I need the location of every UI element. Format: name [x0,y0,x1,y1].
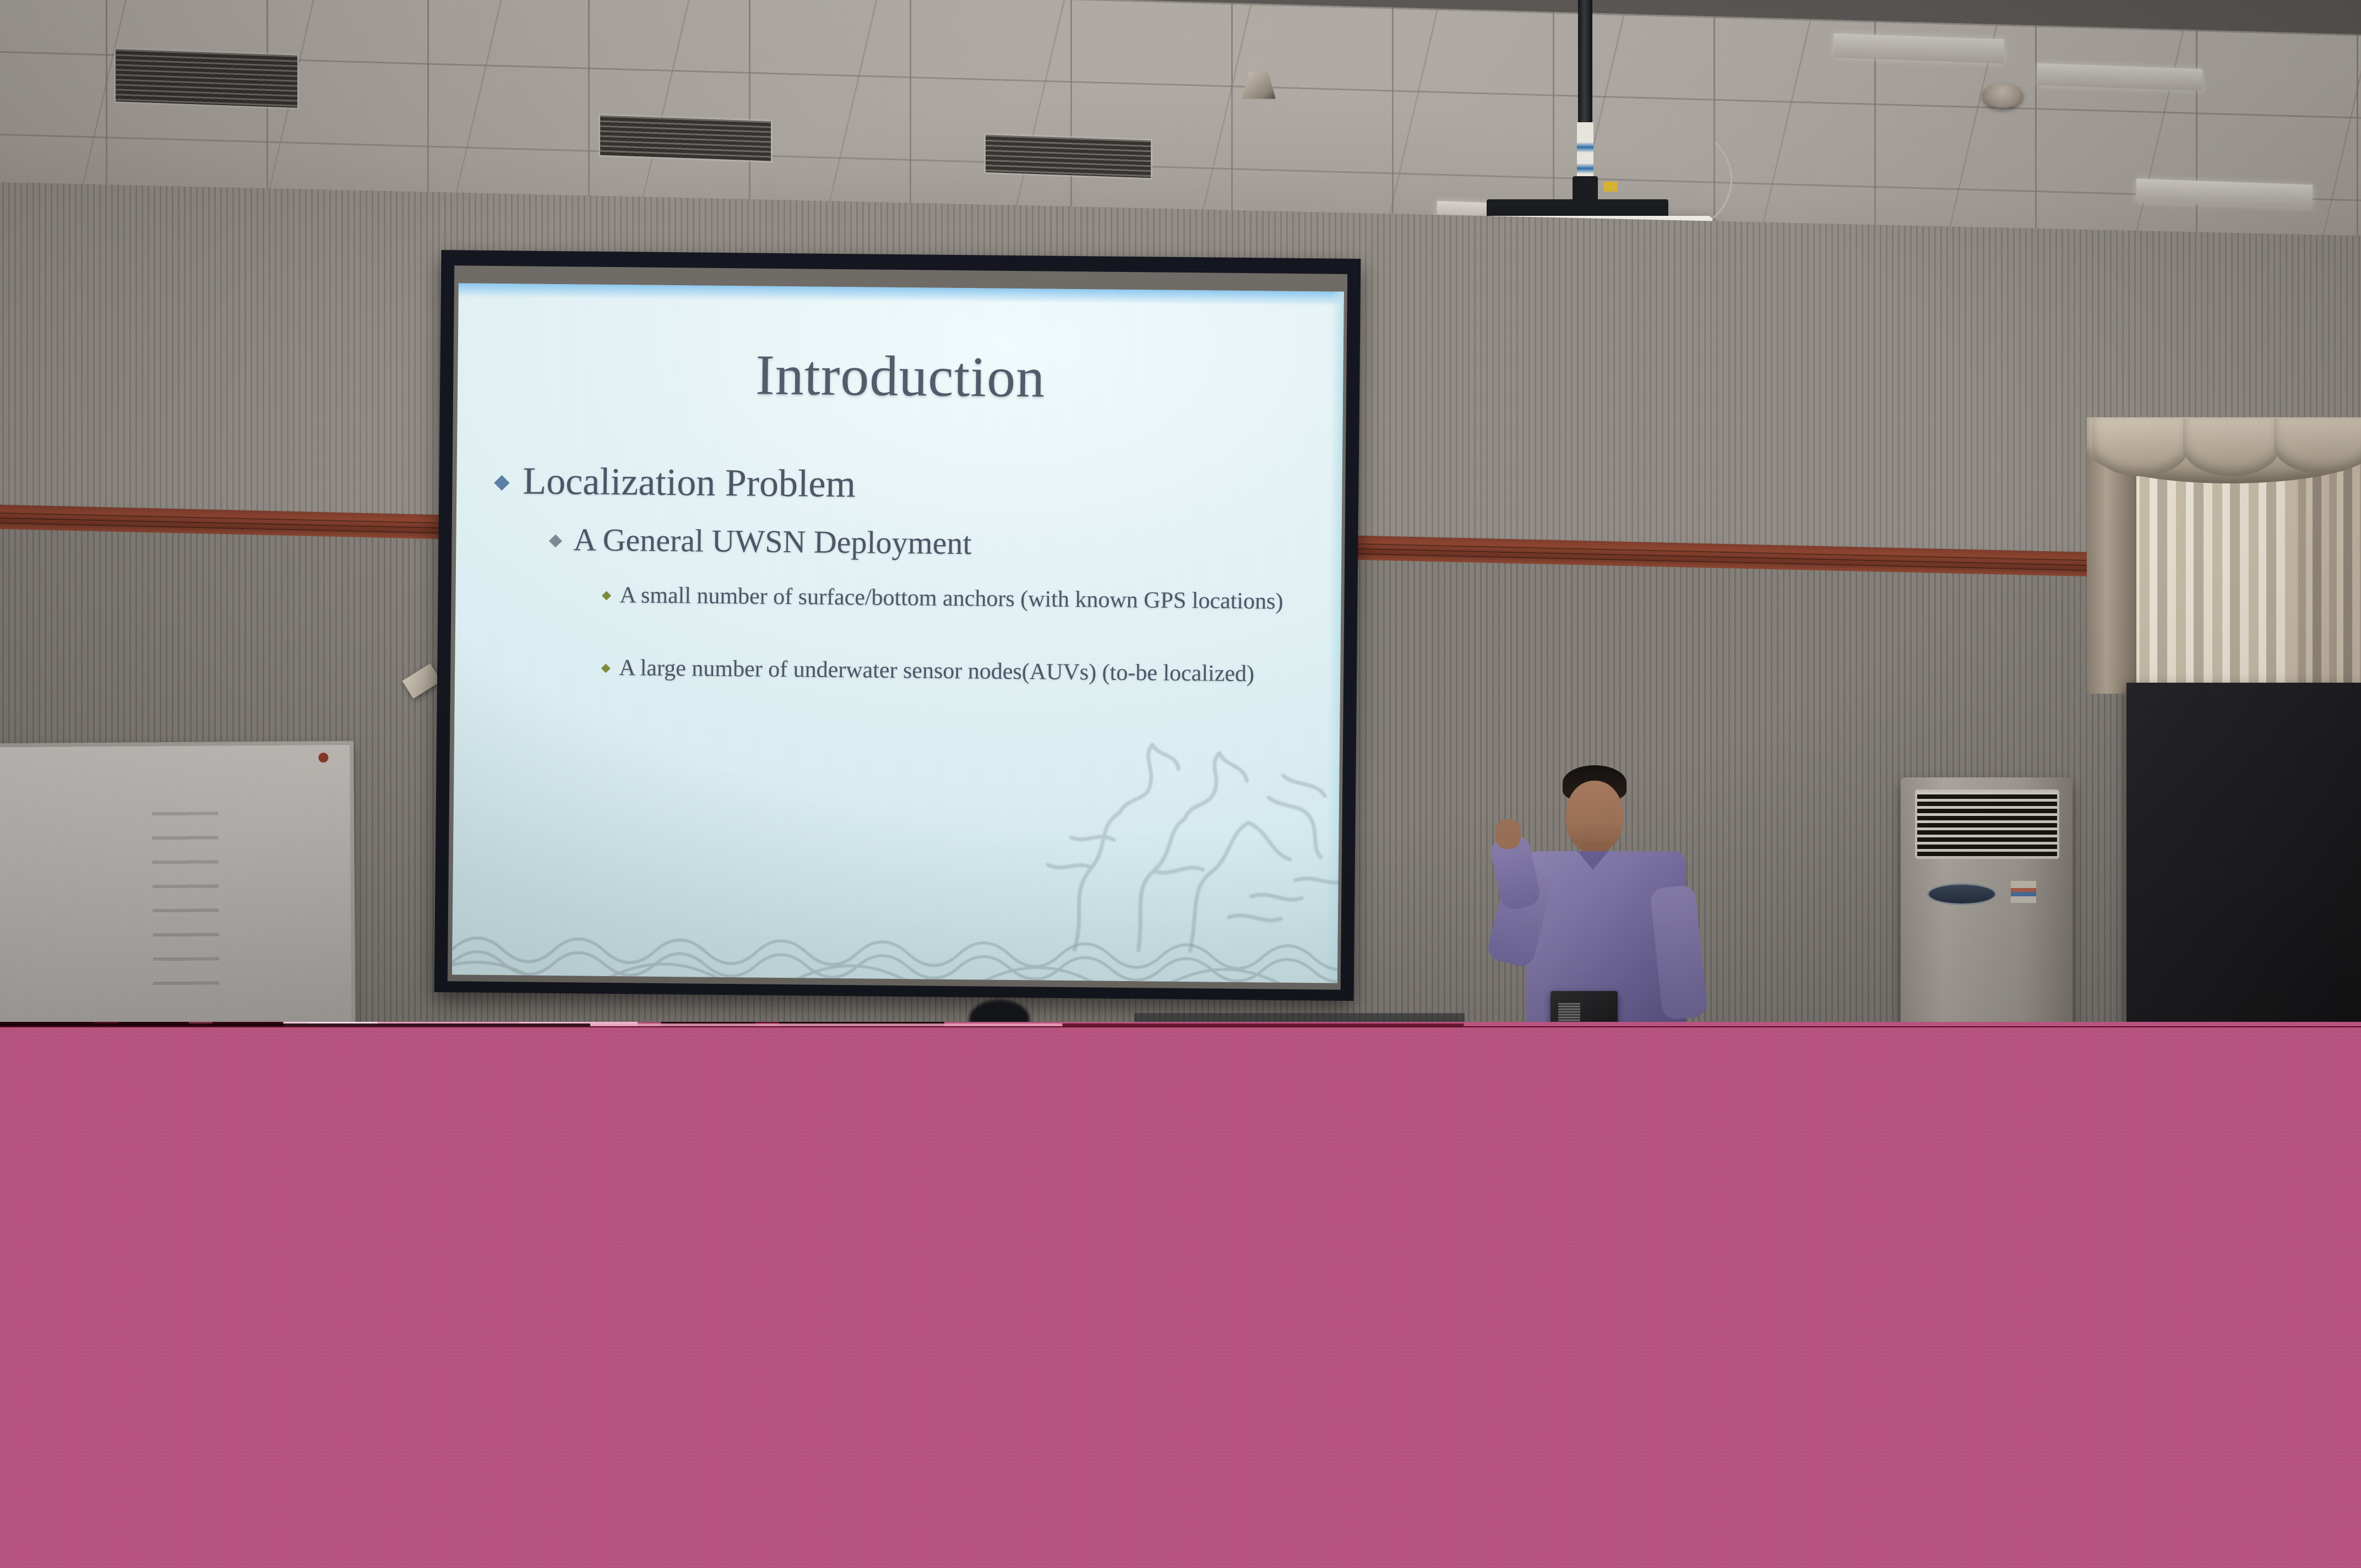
lecture-hall-photo: Introduction Localization Problem A Gene… [0,0,2361,1026]
ceiling-vent-left [116,49,297,108]
bullet-diamond-icon-3 [602,591,611,600]
laptop [1551,991,1618,1026]
truncation-band-dither [0,1027,2361,1568]
whiteboard-magnet-icon [318,753,328,763]
projection-screen-frame: Introduction Localization Problem A Gene… [434,250,1361,1001]
wave-pattern-icon [452,894,1338,983]
slide-bullet-2-text: A General UWSN Deployment [573,522,972,562]
projector-mount-arm [1573,176,1598,209]
curtain-valance-swag-2 [2183,418,2280,476]
bullet-diamond-icon-2 [549,535,562,548]
whiteboard [0,741,356,1026]
slide-bullet-3-text: A small number of surface/bottom anchors… [619,582,1283,616]
bullet-diamond-icon-4 [601,663,611,673]
slide-bullet-4-text: A large number of underwater sensor node… [619,655,1254,688]
slide-bullet-4: A large number of underwater sensor node… [602,655,1291,689]
slide-bullet-1-text: Localization Problem [523,460,856,506]
smoke-detector-icon [1982,83,2023,108]
ceiling-vent-right [986,135,1151,178]
projection-screen-surface: Introduction Localization Problem A Gene… [452,283,1344,983]
air-conditioner-label [2011,881,2036,903]
ceiling-vent-center [600,116,771,161]
slide-bullet-3: A small number of surface/bottom anchors… [603,582,1291,616]
presenter-hand-raised [1495,819,1521,849]
air-conditioner-grille [1915,790,2059,859]
slide-title: Introduction [458,344,1343,409]
slide-bullet-1: Localization Problem [496,460,1312,511]
air-conditioner-badge [1927,883,1996,905]
slide-bullet-2: A General UWSN Deployment [551,522,1322,565]
whiteboard-marks [152,812,219,994]
air-conditioner-unit [1901,777,2072,1026]
curtain-valance-swag-1 [2092,418,2189,476]
presenter [1465,749,1718,1026]
screenshot-root: Introduction Localization Problem A Gene… [0,0,2361,1568]
bullet-diamond-icon-1 [494,475,509,490]
dark-cabinet [2126,683,2361,1026]
truncation-band [0,1027,2361,1568]
